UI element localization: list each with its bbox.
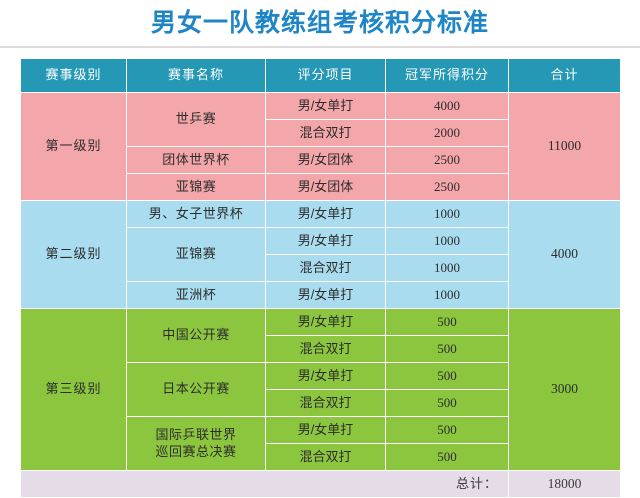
- title-divider: [0, 46, 640, 48]
- event-item-cell: 混合双打: [266, 120, 386, 147]
- event-item-cell: 男/女团体: [266, 147, 386, 174]
- grand-total-label: 总计：: [21, 471, 509, 498]
- tier-level-cell: 第三级别: [21, 309, 127, 471]
- column-header-item: 评分项目: [266, 59, 386, 93]
- event-item-cell: 男/女单打: [266, 417, 386, 444]
- grand-total-value: 18000: [509, 471, 621, 498]
- event-name-cell: 世乒赛: [127, 93, 266, 147]
- column-header-level: 赛事级别: [21, 59, 127, 93]
- table-row: 第三级别 中国公开赛 男/女单打 500 3000: [21, 309, 621, 336]
- event-item-cell: 男/女单打: [266, 201, 386, 228]
- event-name-cell: 亚洲杯: [127, 282, 266, 309]
- event-points-cell: 500: [386, 444, 509, 471]
- event-name-cell: 日本公开赛: [127, 363, 266, 417]
- score-table: 赛事级别 赛事名称 评分项目 冠军所得积分 合计 第一级别 世乒赛 男/女单打 …: [20, 58, 621, 498]
- column-header-name: 赛事名称: [127, 59, 266, 93]
- table-row: 第一级别 世乒赛 男/女单打 4000 11000: [21, 93, 621, 120]
- column-header-total: 合计: [509, 59, 621, 93]
- table-footer: 总计： 18000: [21, 471, 621, 498]
- event-item-cell: 男/女团体: [266, 174, 386, 201]
- event-name-cell: 团体世界杯: [127, 147, 266, 174]
- tier-total-cell: 3000: [509, 309, 621, 471]
- event-name-cell: 男、女子世界杯: [127, 201, 266, 228]
- event-points-cell: 2500: [386, 147, 509, 174]
- event-item-cell: 混合双打: [266, 336, 386, 363]
- event-item-cell: 男/女单打: [266, 309, 386, 336]
- tier-total-cell: 11000: [509, 93, 621, 201]
- page-title: 男女一队教练组考核积分标准: [0, 6, 640, 40]
- event-name-cell: 亚锦赛: [127, 174, 266, 201]
- header-row: 赛事级别 赛事名称 评分项目 冠军所得积分 合计: [21, 59, 621, 93]
- event-item-cell: 混合双打: [266, 390, 386, 417]
- event-points-cell: 1000: [386, 255, 509, 282]
- table-header: 赛事级别 赛事名称 评分项目 冠军所得积分 合计: [21, 59, 621, 93]
- table-row: 第二级别 男、女子世界杯 男/女单打 1000 4000: [21, 201, 621, 228]
- event-item-cell: 混合双打: [266, 444, 386, 471]
- event-name-line2: 巡回赛总决赛: [155, 444, 236, 459]
- event-item-cell: 男/女单打: [266, 363, 386, 390]
- event-points-cell: 500: [386, 336, 509, 363]
- event-points-cell: 1000: [386, 201, 509, 228]
- event-points-cell: 2500: [386, 174, 509, 201]
- event-points-cell: 1000: [386, 228, 509, 255]
- tier-level-cell: 第一级别: [21, 93, 127, 201]
- score-table-container: 赛事级别 赛事名称 评分项目 冠军所得积分 合计 第一级别 世乒赛 男/女单打 …: [20, 58, 620, 498]
- event-points-cell: 500: [386, 309, 509, 336]
- event-name-cell: 亚锦赛: [127, 228, 266, 282]
- event-item-cell: 男/女单打: [266, 282, 386, 309]
- event-item-cell: 男/女单打: [266, 93, 386, 120]
- event-name-line1: 国际乒联世界: [155, 427, 236, 442]
- slide-canvas: 男女一队教练组考核积分标准 赛事级别 赛事名称 评分项目 冠军所得积分 合计: [0, 0, 640, 481]
- event-name-cell: 中国公开赛: [127, 309, 266, 363]
- tier-level-cell: 第二级别: [21, 201, 127, 309]
- event-points-cell: 500: [386, 417, 509, 444]
- grand-total-row: 总计： 18000: [21, 471, 621, 498]
- event-points-cell: 500: [386, 390, 509, 417]
- event-points-cell: 500: [386, 363, 509, 390]
- event-points-cell: 1000: [386, 282, 509, 309]
- tier-total-cell: 4000: [509, 201, 621, 309]
- table-body: 第一级别 世乒赛 男/女单打 4000 11000 混合双打 2000 团体世界…: [21, 93, 621, 471]
- column-header-points: 冠军所得积分: [386, 59, 509, 93]
- event-points-cell: 2000: [386, 120, 509, 147]
- event-points-cell: 4000: [386, 93, 509, 120]
- event-item-cell: 男/女单打: [266, 228, 386, 255]
- event-name-cell: 国际乒联世界 巡回赛总决赛: [127, 417, 266, 471]
- event-item-cell: 混合双打: [266, 255, 386, 282]
